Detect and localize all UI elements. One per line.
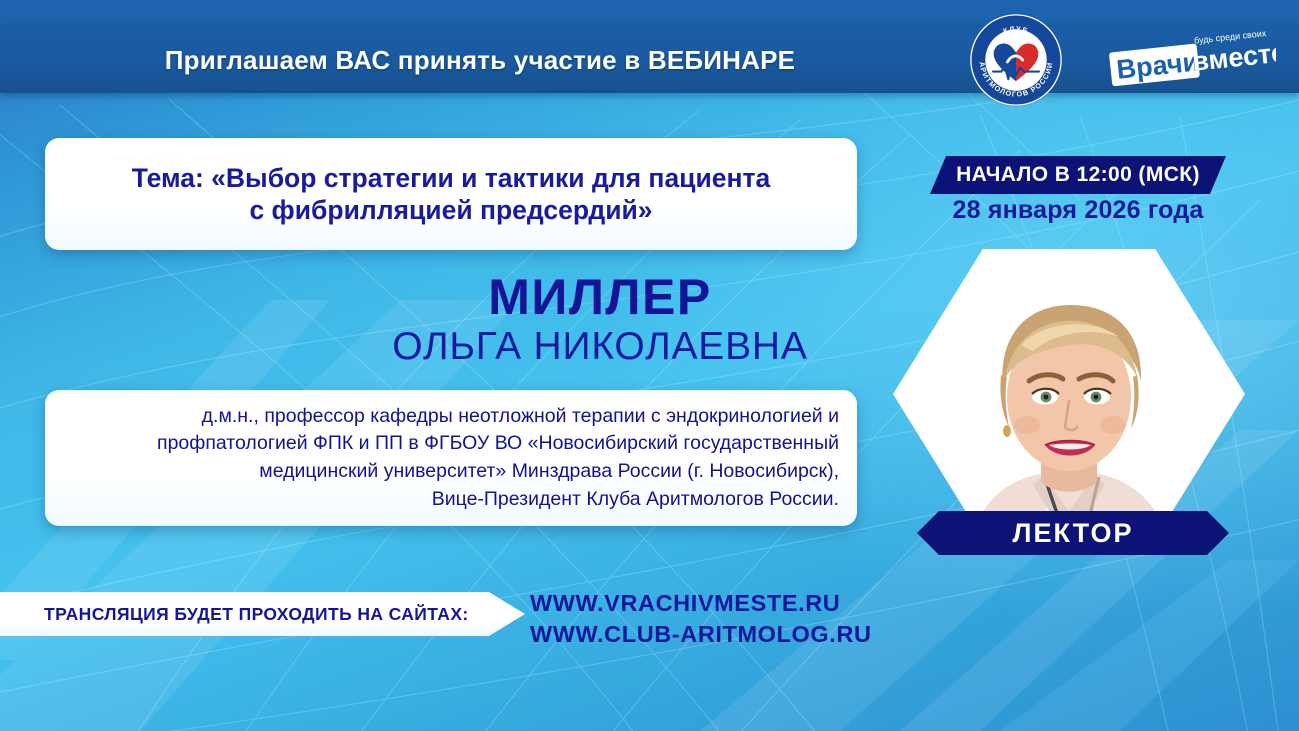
lecturer-name-block: МИЛЛЕР ОЛЬГА НИКОЛАЕВНА — [300, 272, 900, 370]
broadcast-sites: WWW.VRACHIVMESTE.RU WWW.CLUB-ARITMOLOG.R… — [530, 588, 872, 651]
site-url-link[interactable]: WWW.CLUB-ARITMOLOG.RU — [530, 619, 872, 650]
club-aritmologov-logo-icon: КЛУБ АРИТМОЛОГОВ РОССИИ — [968, 12, 1064, 108]
lecturer-given-name: ОЛЬГА НИКОЛАЕВНА — [300, 325, 900, 370]
start-time-badge: НАЧАЛО В 12:00 (МСК) — [930, 156, 1226, 194]
lecturer-badge: ЛЕКТОР — [917, 511, 1229, 555]
credentials-line: Вице-Президент Клуба Аритмологов России. — [157, 486, 839, 514]
vrachi-vmeste-logo-icon: Врачи вместе будь среди своих — [1108, 28, 1276, 90]
start-time-text: НАЧАЛО В 12:00 (МСК) — [956, 163, 1200, 187]
lecturer-portrait — [893, 249, 1245, 539]
topic-card: Тема: «Выбор стратегии и тактики для пац… — [45, 138, 857, 250]
credentials-card: д.м.н., профессор кафедры неотложной тер… — [45, 390, 857, 526]
topic-line-1: Тема: «Выбор стратегии и тактики для пац… — [132, 162, 770, 194]
credentials-line: профпатологией ФПК и ПП в ФГБОУ ВО «Ново… — [157, 430, 839, 458]
invite-headline: Приглашаем ВАС принять участие в ВЕБИНАР… — [0, 27, 960, 93]
lecturer-badge-label: ЛЕКТОР — [1013, 518, 1134, 549]
broadcast-banner: ТРАНСЛЯЦИЯ БУДЕТ ПРОХОДИТЬ НА САЙТАХ: — [0, 592, 525, 636]
top-strip — [0, 0, 1299, 27]
lecturer-surname: МИЛЛЕР — [300, 272, 900, 323]
lecturer-photo-block: ЛЕКТОР — [893, 249, 1245, 559]
header-band: Приглашаем ВАС принять участие в ВЕБИНАР… — [0, 27, 1299, 93]
webinar-announcement-poster: Приглашаем ВАС принять участие в ВЕБИНАР… — [0, 0, 1299, 731]
credentials-line: медицинский университет» Минздрава Росси… — [157, 458, 839, 486]
topic-text: Тема: «Выбор стратегии и тактики для пац… — [132, 162, 770, 227]
credentials-text: д.м.н., профессор кафедры неотложной тер… — [157, 403, 839, 514]
topic-line-2: с фибрилляцией предсердий» — [132, 194, 770, 226]
webinar-date: 28 января 2026 года — [930, 196, 1226, 225]
site-url-link[interactable]: WWW.VRACHIVMESTE.RU — [530, 588, 872, 619]
broadcast-label: ТРАНСЛЯЦИЯ БУДЕТ ПРОХОДИТЬ НА САЙТАХ: — [0, 604, 469, 625]
lecturer-photo-hexagon — [893, 249, 1245, 539]
credentials-line: д.м.н., профессор кафедры неотложной тер… — [157, 403, 839, 431]
